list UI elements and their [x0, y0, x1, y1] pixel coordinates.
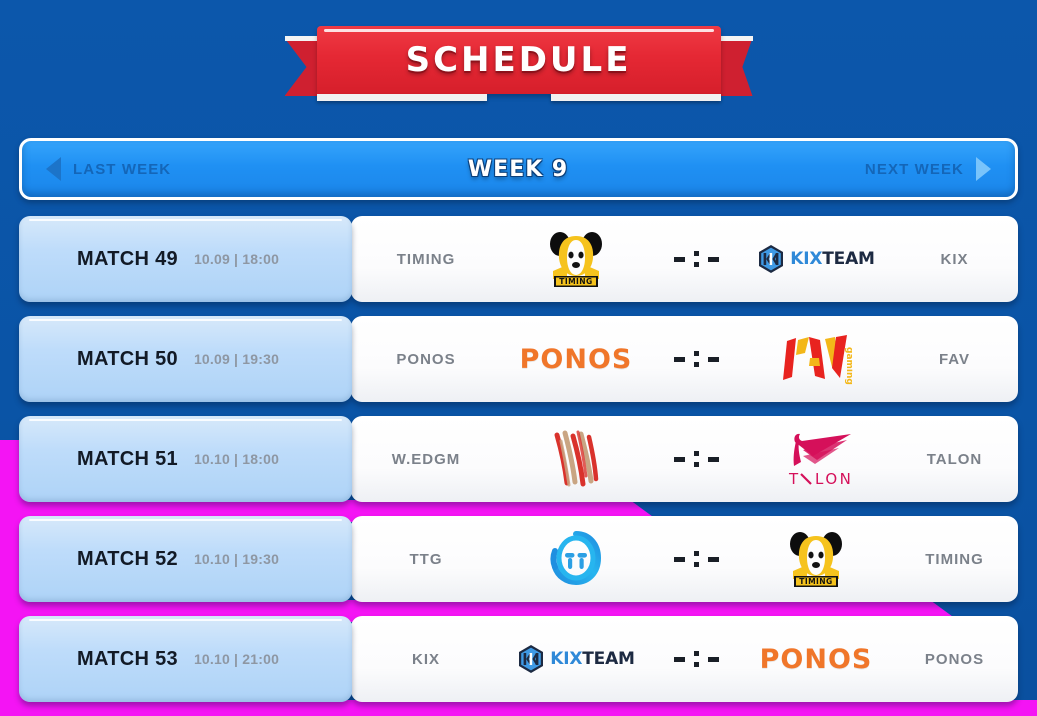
match-row-info-panel: MATCH 49 10.09 | 18:00 — [19, 216, 352, 302]
home-team-abbr: PONOS — [351, 351, 501, 368]
fav-gaming-logo: gaming — [779, 333, 853, 385]
match-row-info-panel: MATCH 53 10.10 | 21:00 — [19, 616, 352, 702]
home-team-logo: PONOS — [501, 316, 651, 402]
kixteam-logo: KIXTEAM — [757, 244, 875, 274]
current-week-label: WEEK 9 — [468, 157, 568, 182]
match-row[interactable]: MATCH 52 10.10 | 19:30 TTG — [19, 516, 1018, 602]
home-team-logo — [501, 416, 651, 502]
home-team-logo: KIXTEAM — [501, 616, 651, 702]
kixteam-logo: KIXTEAM — [517, 644, 635, 674]
timing-logo: TIMING — [789, 531, 843, 587]
next-week-button[interactable]: NEXT WEEK — [865, 157, 991, 181]
match-number: MATCH 52 — [77, 548, 178, 571]
svg-text:gaming: gaming — [844, 347, 853, 385]
away-team-abbr: TIMING — [891, 551, 1018, 568]
timing-logo: TIMING — [549, 231, 603, 287]
svg-text:TIMING: TIMING — [559, 277, 592, 286]
away-team-abbr: TALON — [891, 451, 1018, 468]
match-score — [651, 351, 741, 367]
match-row[interactable]: MATCH 53 10.10 | 21:00 KIX — [19, 616, 1018, 702]
match-datetime: 10.10 | 19:30 — [194, 551, 279, 567]
match-row-info-panel: MATCH 50 10.09 | 19:30 — [19, 316, 352, 402]
match-number: MATCH 50 — [77, 348, 178, 371]
away-team-abbr: PONOS — [891, 651, 1018, 668]
away-team-logo: T LON — [741, 416, 891, 502]
page-title: SCHEDULE — [317, 26, 721, 94]
last-week-button[interactable]: LAST WEEK — [46, 157, 171, 181]
match-score — [651, 251, 741, 267]
ponos-logo: PONOS — [520, 344, 633, 375]
match-number: MATCH 51 — [77, 448, 178, 471]
talon-logo: T LON — [773, 428, 859, 490]
match-number: MATCH 49 — [77, 248, 178, 271]
match-datetime: 10.09 | 18:00 — [194, 251, 279, 267]
last-week-label: LAST WEEK — [73, 161, 171, 178]
match-datetime: 10.09 | 19:30 — [194, 351, 279, 367]
home-team-abbr: TIMING — [351, 251, 501, 268]
kix-shield-icon — [757, 244, 785, 274]
match-number: MATCH 53 — [77, 648, 178, 671]
match-score — [651, 651, 741, 667]
match-row[interactable]: MATCH 49 10.09 | 18:00 TIMING — [19, 216, 1018, 302]
match-datetime: 10.10 | 21:00 — [194, 651, 279, 667]
caret-left-icon — [46, 157, 61, 181]
next-week-label: NEXT WEEK — [865, 161, 964, 178]
away-team-logo: TIMING — [741, 516, 891, 602]
away-team-logo: KIXTEAM — [741, 216, 891, 302]
away-team-logo: gaming — [741, 316, 891, 402]
match-score — [651, 551, 741, 567]
match-row[interactable]: MATCH 51 10.10 | 18:00 W.EDGM — [19, 416, 1018, 502]
kix-shield-icon — [517, 644, 545, 674]
match-row[interactable]: MATCH 50 10.09 | 19:30 PONOS PONOS — [19, 316, 1018, 402]
home-team-logo: TIMING — [501, 216, 651, 302]
week-navigation-bar: LAST WEEK WEEK 9 NEXT WEEK — [19, 138, 1018, 200]
ribbon-fold — [317, 94, 721, 106]
svg-text:LON: LON — [815, 470, 853, 488]
match-row-info-panel: MATCH 51 10.10 | 18:00 — [19, 416, 352, 502]
caret-right-icon — [976, 157, 991, 181]
home-team-abbr: KIX — [351, 651, 501, 668]
match-score — [651, 451, 741, 467]
away-team-logo: PONOS — [741, 616, 891, 702]
ribbon-fold-right — [551, 94, 721, 101]
home-team-abbr: TTG — [351, 551, 501, 568]
away-team-abbr: KIX — [891, 251, 1018, 268]
match-row-info-panel: MATCH 52 10.10 | 19:30 — [19, 516, 352, 602]
ribbon-fold-left — [317, 94, 487, 101]
home-team-abbr: W.EDGM — [351, 451, 501, 468]
home-team-logo — [501, 516, 651, 602]
ttg-logo — [547, 530, 605, 588]
match-datetime: 10.10 | 18:00 — [194, 451, 279, 467]
svg-text:T: T — [788, 470, 801, 488]
away-team-abbr: FAV — [891, 351, 1018, 368]
ponos-logo: PONOS — [760, 644, 873, 675]
match-list: MATCH 49 10.09 | 18:00 TIMING — [0, 216, 1037, 716]
wedgm-claw-logo — [547, 429, 605, 489]
svg-text:TIMING: TIMING — [799, 577, 832, 586]
schedule-page: SCHEDULE LAST WEEK WEEK 9 NEXT WEEK MATC… — [0, 0, 1037, 716]
page-title-banner: SCHEDULE — [0, 26, 1037, 112]
